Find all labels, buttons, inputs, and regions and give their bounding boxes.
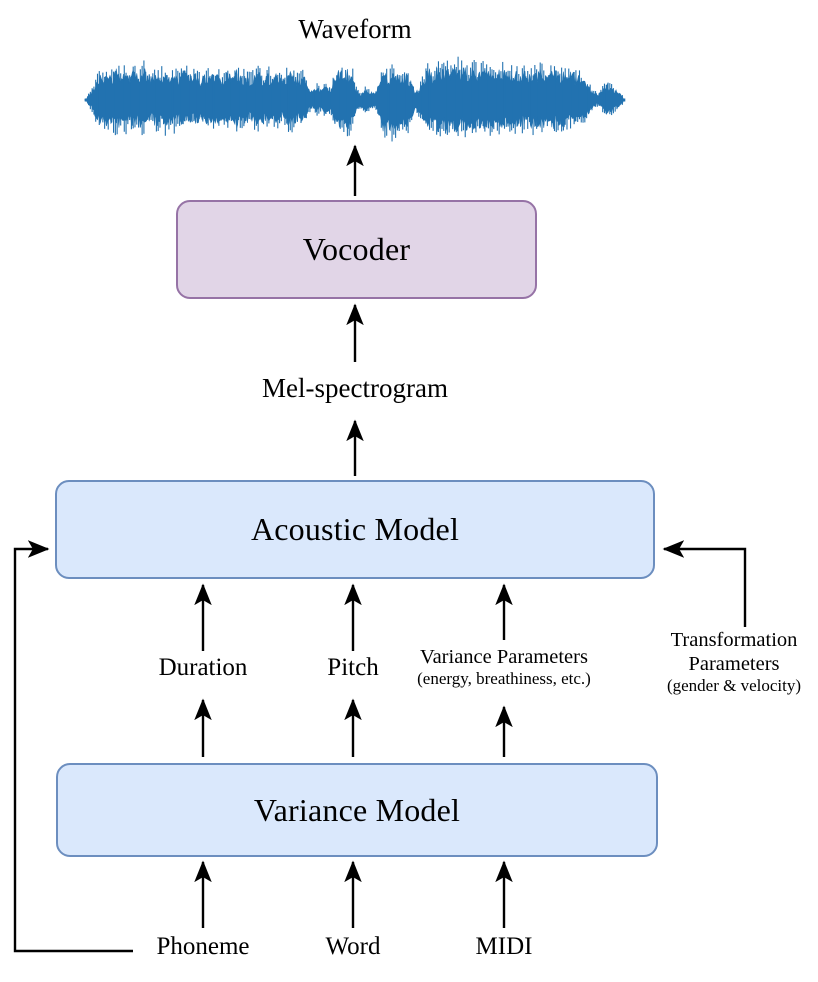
waveform-title: Waveform (155, 14, 555, 46)
input-label-midi-text: MIDI (476, 933, 533, 960)
edge-label-variance-parameters: Variance Parameters (energy, breathiness… (396, 645, 612, 689)
node-variance-model[interactable]: Variance Model (56, 763, 658, 857)
node-acoustic-model-label: Acoustic Model (251, 511, 459, 548)
arrow-transformation-to-acoustic (664, 549, 745, 627)
diagram-canvas: Waveform Vocoder Mel-spectrogram Acousti… (0, 0, 818, 982)
input-label-midi: MIDI (444, 932, 564, 962)
edge-label-transformation-line2: Parameters (650, 652, 818, 676)
input-label-phoneme: Phoneme (128, 932, 278, 962)
node-vocoder-label: Vocoder (303, 231, 410, 268)
waveform-title-text: Waveform (298, 14, 411, 44)
node-acoustic-model[interactable]: Acoustic Model (55, 480, 655, 579)
edge-label-transformation-parameters: Transformation Parameters (gender & velo… (650, 628, 818, 696)
input-label-word: Word (293, 932, 413, 962)
node-variance-model-label: Variance Model (254, 792, 460, 829)
edge-label-variance-parameters-main: Variance Parameters (396, 645, 612, 669)
edge-label-variance-parameters-sub: (energy, breathiness, etc.) (396, 669, 612, 689)
edge-label-duration-text: Duration (123, 653, 283, 683)
input-label-word-text: Word (326, 933, 381, 960)
edge-label-transformation-sub: (gender & velocity) (650, 676, 818, 696)
input-label-phoneme-text: Phoneme (156, 933, 249, 960)
mel-spectrogram-text: Mel-spectrogram (262, 373, 448, 403)
mel-spectrogram-label: Mel-spectrogram (155, 373, 555, 405)
edge-label-transformation-line1: Transformation (650, 628, 818, 652)
node-vocoder[interactable]: Vocoder (176, 200, 537, 299)
arrow-phoneme-to-acoustic (15, 549, 133, 951)
edge-label-duration: Duration (123, 653, 283, 683)
